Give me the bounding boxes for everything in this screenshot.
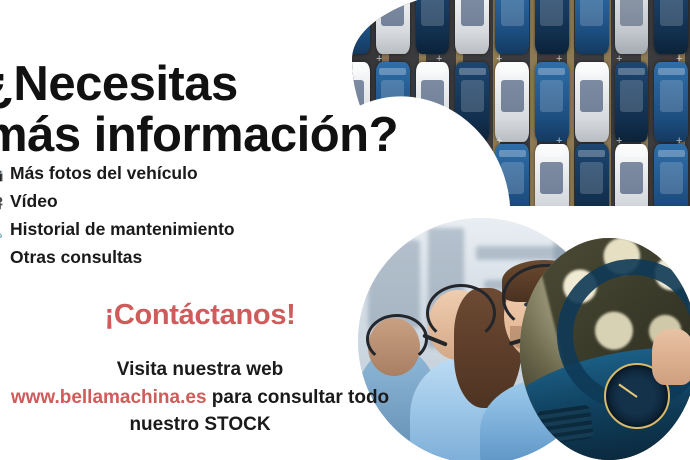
benefits-list: 📷 Más fotos del vehículo 🎥 Vídeo 🔧 Histo… — [0, 163, 326, 275]
list-item-label: Más fotos del vehículo — [10, 163, 198, 184]
question-icon: ❓ — [0, 251, 2, 265]
parked-car — [615, 0, 649, 54]
parked-car — [654, 0, 688, 54]
parked-car — [575, 0, 609, 54]
parked-car — [654, 62, 688, 142]
parking-mark: + — [556, 136, 562, 147]
page-title: ¿Necesitas más información? — [0, 59, 404, 161]
video-icon: 🎥 — [0, 195, 2, 209]
list-item: 📷 Más fotos del vehículo — [0, 163, 326, 184]
list-item-label: Otras consultas — [10, 247, 142, 268]
list-item-label: Historial de mantenimiento — [10, 219, 235, 240]
parking-mark: + — [496, 54, 502, 65]
parked-car — [416, 0, 450, 54]
parked-car — [535, 0, 569, 54]
parked-car — [495, 0, 529, 54]
promo-poster: + + + + + + + + + + + + — [0, 0, 690, 460]
website-block: Visita nuestra web www.bellamachina.es p… — [0, 356, 400, 439]
headset-icon — [426, 284, 496, 342]
parking-mark: + — [616, 54, 622, 65]
list-item: 🎥 Vídeo — [0, 191, 326, 212]
parked-car — [455, 0, 489, 54]
website-url[interactable]: www.bellamachina.es — [11, 387, 207, 408]
camera-icon: 📷 — [0, 167, 2, 181]
parking-mark: + — [676, 136, 682, 147]
driver-hand — [652, 329, 690, 385]
parked-car — [575, 62, 609, 142]
parking-mark: + — [436, 54, 442, 65]
website-line-3: nuestro STOCK — [0, 411, 400, 439]
contact-callout: ¡Contáctanos! — [0, 299, 400, 332]
wrench-icon: 🔧 — [0, 223, 2, 237]
headline-line-1: ¿Necesitas — [0, 59, 404, 110]
parked-car — [352, 0, 370, 54]
list-item: ❓ Otras consultas — [0, 247, 326, 268]
car-row — [352, 0, 690, 54]
car-interior-driving-photo — [520, 238, 690, 460]
parking-mark: + — [616, 136, 622, 147]
list-item: 🔧 Historial de mantenimiento — [0, 219, 326, 240]
list-item-label: Vídeo — [10, 191, 58, 212]
parking-mark: + — [496, 136, 502, 147]
parked-car — [535, 62, 569, 142]
parked-car — [495, 62, 529, 142]
website-line-1: Visita nuestra web — [0, 356, 400, 384]
parked-car — [615, 62, 649, 142]
parking-mark: + — [676, 54, 682, 65]
website-line-2: www.bellamachina.es para consultar todo — [0, 384, 400, 412]
website-line-2-rest: para consultar todo — [207, 387, 390, 408]
headline-line-2: más información? — [0, 110, 404, 161]
parking-mark: + — [556, 54, 562, 65]
parked-car — [376, 0, 410, 54]
